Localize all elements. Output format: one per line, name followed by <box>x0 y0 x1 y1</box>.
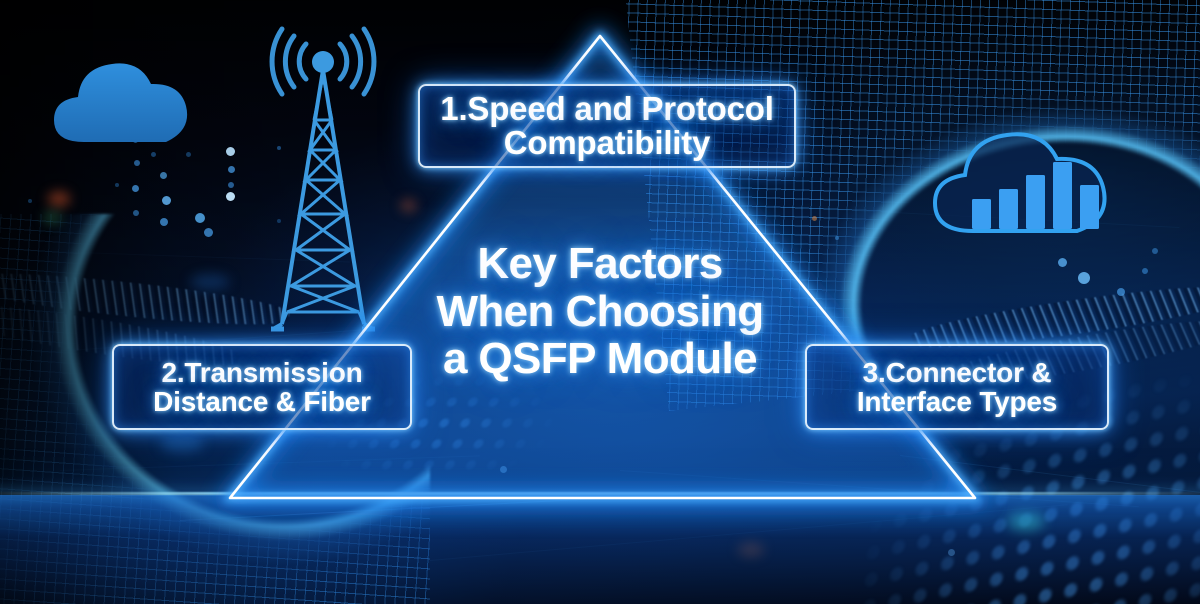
factor-box-2[interactable]: 2.Transmission Distance & Fiber <box>112 344 412 430</box>
factor-box-2-label: 2.Transmission Distance & Fiber <box>153 358 371 416</box>
factor-box-1[interactable]: 1.Speed and Protocol Compatibility <box>418 84 796 168</box>
factor-box-1-label: 1.Speed and Protocol Compatibility <box>440 92 773 161</box>
factor-box-3[interactable]: 3.Connector & Interface Types <box>805 344 1109 430</box>
factor-box-3-label: 3.Connector & Interface Types <box>857 358 1057 416</box>
center-title: Key Factors When Choosing a QSFP Module <box>390 240 810 383</box>
infographic-canvas: 1.Speed and Protocol Compatibility 2.Tra… <box>0 0 1200 604</box>
